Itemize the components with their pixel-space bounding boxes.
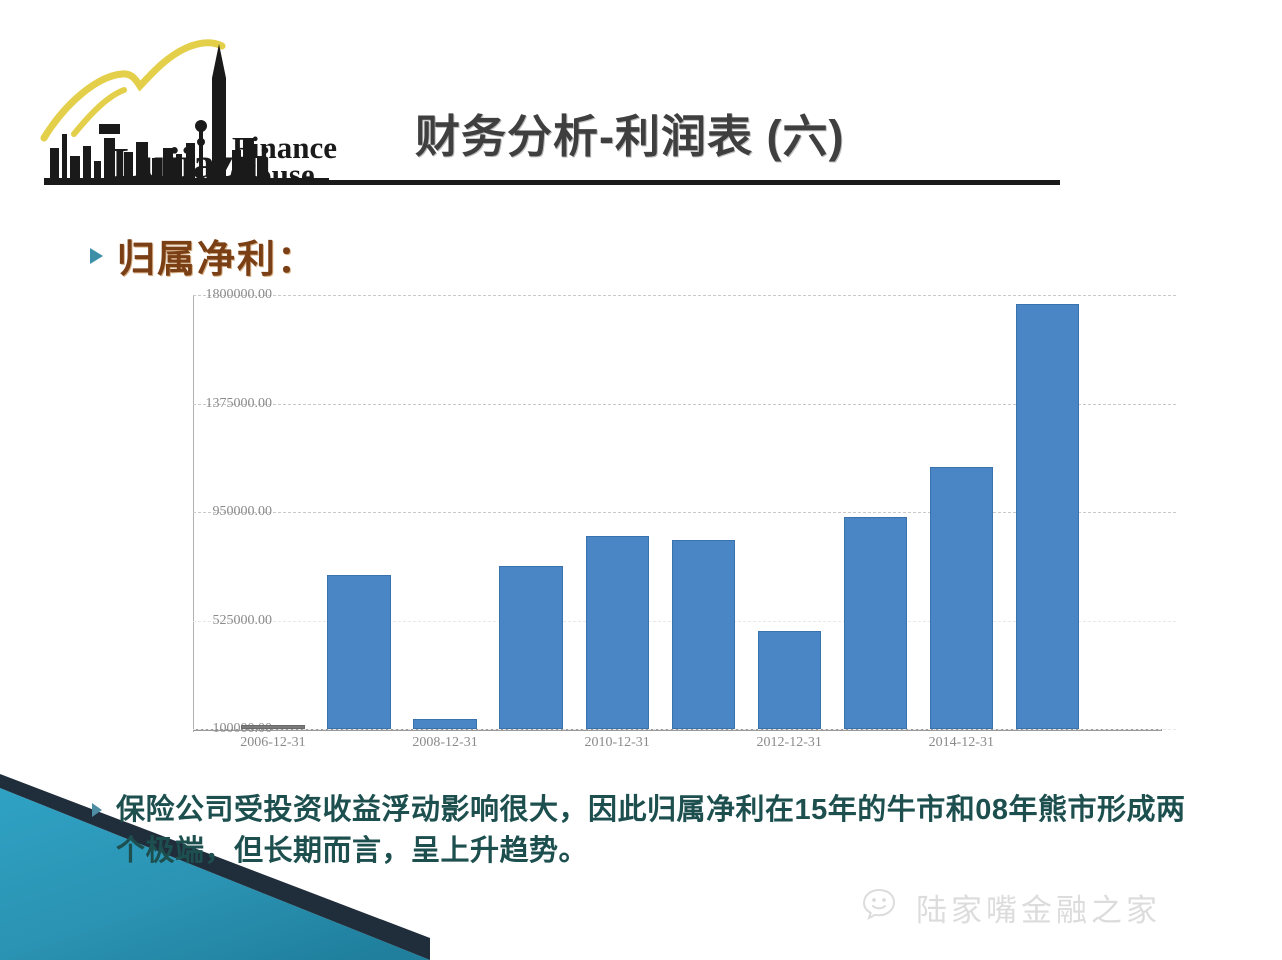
footer-note-text: 保险公司受投资收益浮动影响很大，因此归属净利在15年的牛市和08年熊市形成两个极…	[116, 790, 1212, 872]
bar	[844, 517, 907, 729]
x-axis-tick-label: 2012-12-31	[757, 735, 822, 751]
net-profit-bar-chart: 1800000.001375000.00950000.00525000.0010…	[86, 286, 1176, 746]
bar	[930, 467, 993, 729]
triangle-right-icon	[90, 248, 103, 264]
bar	[241, 725, 304, 729]
bar	[586, 536, 649, 730]
wechat-smiley-icon	[862, 884, 904, 931]
x-axis-tick-label: 2010-12-31	[584, 735, 649, 751]
slide: Lujiazui Finance House 财务分析-利润表 (六) 归属净利…	[0, 0, 1282, 960]
lujiazui-finance-house-logo: Lujiazui Finance House	[36, 30, 396, 182]
bar	[1016, 304, 1079, 729]
bar	[672, 540, 735, 729]
x-axis-tick-label: 2014-12-31	[929, 735, 994, 751]
x-axis-tick-label: 2006-12-31	[240, 735, 305, 751]
plot-area	[194, 295, 1162, 729]
section-heading-label: 归属净利：	[117, 228, 317, 283]
footer-note: 保险公司受投资收益浮动影响很大，因此归属净利在15年的牛市和08年熊市形成两个极…	[92, 790, 1212, 872]
triangle-right-icon	[92, 803, 102, 817]
svg-text:House: House	[232, 157, 315, 182]
watermark-label: 陆家嘴金融之家	[916, 885, 1161, 930]
x-axis-tick-label: 2008-12-31	[412, 735, 477, 751]
bar	[758, 631, 821, 729]
section-heading: 归属净利：	[90, 228, 317, 283]
bar	[413, 719, 476, 729]
gridline	[193, 729, 1176, 730]
page-title: 财务分析-利润表 (六)	[415, 100, 844, 165]
bar	[327, 575, 390, 729]
watermark: 陆家嘴金融之家	[862, 884, 1161, 931]
bar	[499, 566, 562, 729]
title-divider	[44, 180, 1060, 185]
